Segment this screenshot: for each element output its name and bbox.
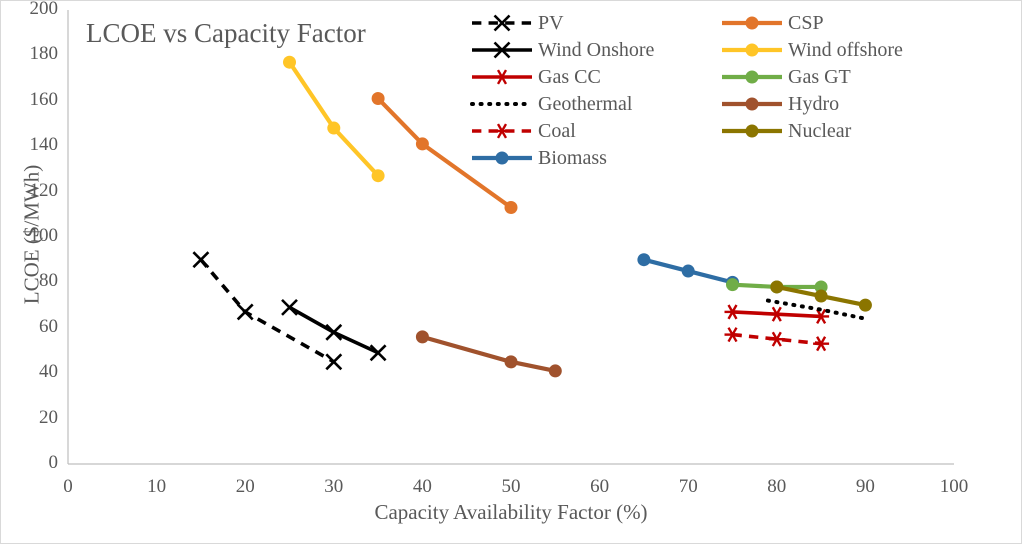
legend-column-1: PVWind OnshoreGas CCGeothermalCoalBiomas… <box>470 10 720 170</box>
legend-item-label: PV <box>538 12 564 34</box>
legend-item-wind-offshore[interactable]: Wind offshore <box>720 37 980 62</box>
legend-swatch-icon <box>470 147 534 169</box>
legend-swatch-icon <box>470 12 534 34</box>
y-tick-label: 20 <box>14 407 58 429</box>
x-tick-label: 0 <box>38 476 98 498</box>
legend-item-nuclear[interactable]: Nuclear <box>720 118 980 143</box>
legend-item-wind-onshore[interactable]: Wind Onshore <box>470 37 720 62</box>
chart-legend: PVWind OnshoreGas CCGeothermalCoalBiomas… <box>470 10 1010 170</box>
legend-swatch-icon <box>470 39 534 61</box>
y-tick-label: 0 <box>14 452 58 474</box>
series-gas-cc <box>725 305 830 323</box>
legend-item-label: Coal <box>538 120 576 142</box>
legend-item-label: Wind Onshore <box>538 39 654 61</box>
series-biomass <box>637 253 739 289</box>
legend-item-csp[interactable]: CSP <box>720 10 980 35</box>
legend-swatch-icon <box>470 66 534 88</box>
legend-item-coal[interactable]: Coal <box>470 118 720 143</box>
y-tick-label: 200 <box>14 0 58 20</box>
legend-item-label: Gas GT <box>788 66 851 88</box>
x-tick-label: 40 <box>392 476 452 498</box>
x-tick-label: 60 <box>570 476 630 498</box>
legend-item-label: Geothermal <box>538 93 632 115</box>
x-tick-label: 100 <box>924 476 984 498</box>
legend-column-2: CSPWind offshoreGas GTHydroNuclear <box>720 10 980 170</box>
legend-swatch-icon <box>720 120 784 142</box>
legend-item-pv[interactable]: PV <box>470 10 720 35</box>
legend-item-geothermal[interactable]: Geothermal <box>470 91 720 116</box>
x-tick-label: 50 <box>481 476 541 498</box>
series-wind-onshore <box>282 300 386 360</box>
legend-item-label: Biomass <box>538 147 607 169</box>
legend-item-hydro[interactable]: Hydro <box>720 91 980 116</box>
legend-item-label: Nuclear <box>788 120 851 142</box>
legend-swatch-icon <box>720 93 784 115</box>
y-tick-label: 40 <box>14 361 58 383</box>
legend-swatch-icon <box>720 12 784 34</box>
legend-item-biomass[interactable]: Biomass <box>470 145 720 170</box>
x-tick-label: 30 <box>304 476 364 498</box>
series-pv <box>193 252 341 369</box>
chart-container: LCOE vs Capacity Factor Capacity Availab… <box>0 0 1022 544</box>
legend-item-label: Wind offshore <box>788 39 903 61</box>
x-tick-label: 90 <box>835 476 895 498</box>
legend-swatch-icon <box>470 120 534 142</box>
x-axis-title: Capacity Availability Factor (%) <box>0 500 1022 525</box>
legend-item-label: CSP <box>788 12 824 34</box>
y-tick-label: 80 <box>14 270 58 292</box>
y-tick-label: 140 <box>14 134 58 156</box>
y-tick-label: 180 <box>14 43 58 65</box>
legend-item-label: Gas CC <box>538 66 601 88</box>
series-hydro <box>416 330 562 377</box>
legend-item-gas-cc[interactable]: Gas CC <box>470 64 720 89</box>
y-tick-label: 160 <box>14 89 58 111</box>
x-tick-label: 80 <box>747 476 807 498</box>
legend-swatch-icon <box>720 66 784 88</box>
x-tick-label: 20 <box>215 476 275 498</box>
legend-swatch-icon <box>720 39 784 61</box>
series-coal <box>725 328 830 351</box>
x-tick-label: 10 <box>127 476 187 498</box>
x-tick-label: 70 <box>658 476 718 498</box>
y-tick-label: 120 <box>14 180 58 202</box>
series-wind-offshore <box>283 56 385 183</box>
y-tick-label: 100 <box>14 225 58 247</box>
y-tick-label: 60 <box>14 316 58 338</box>
legend-item-label: Hydro <box>788 93 839 115</box>
legend-swatch-icon <box>470 93 534 115</box>
chart-title: LCOE vs Capacity Factor <box>86 18 366 49</box>
legend-item-gas-gt[interactable]: Gas GT <box>720 64 980 89</box>
